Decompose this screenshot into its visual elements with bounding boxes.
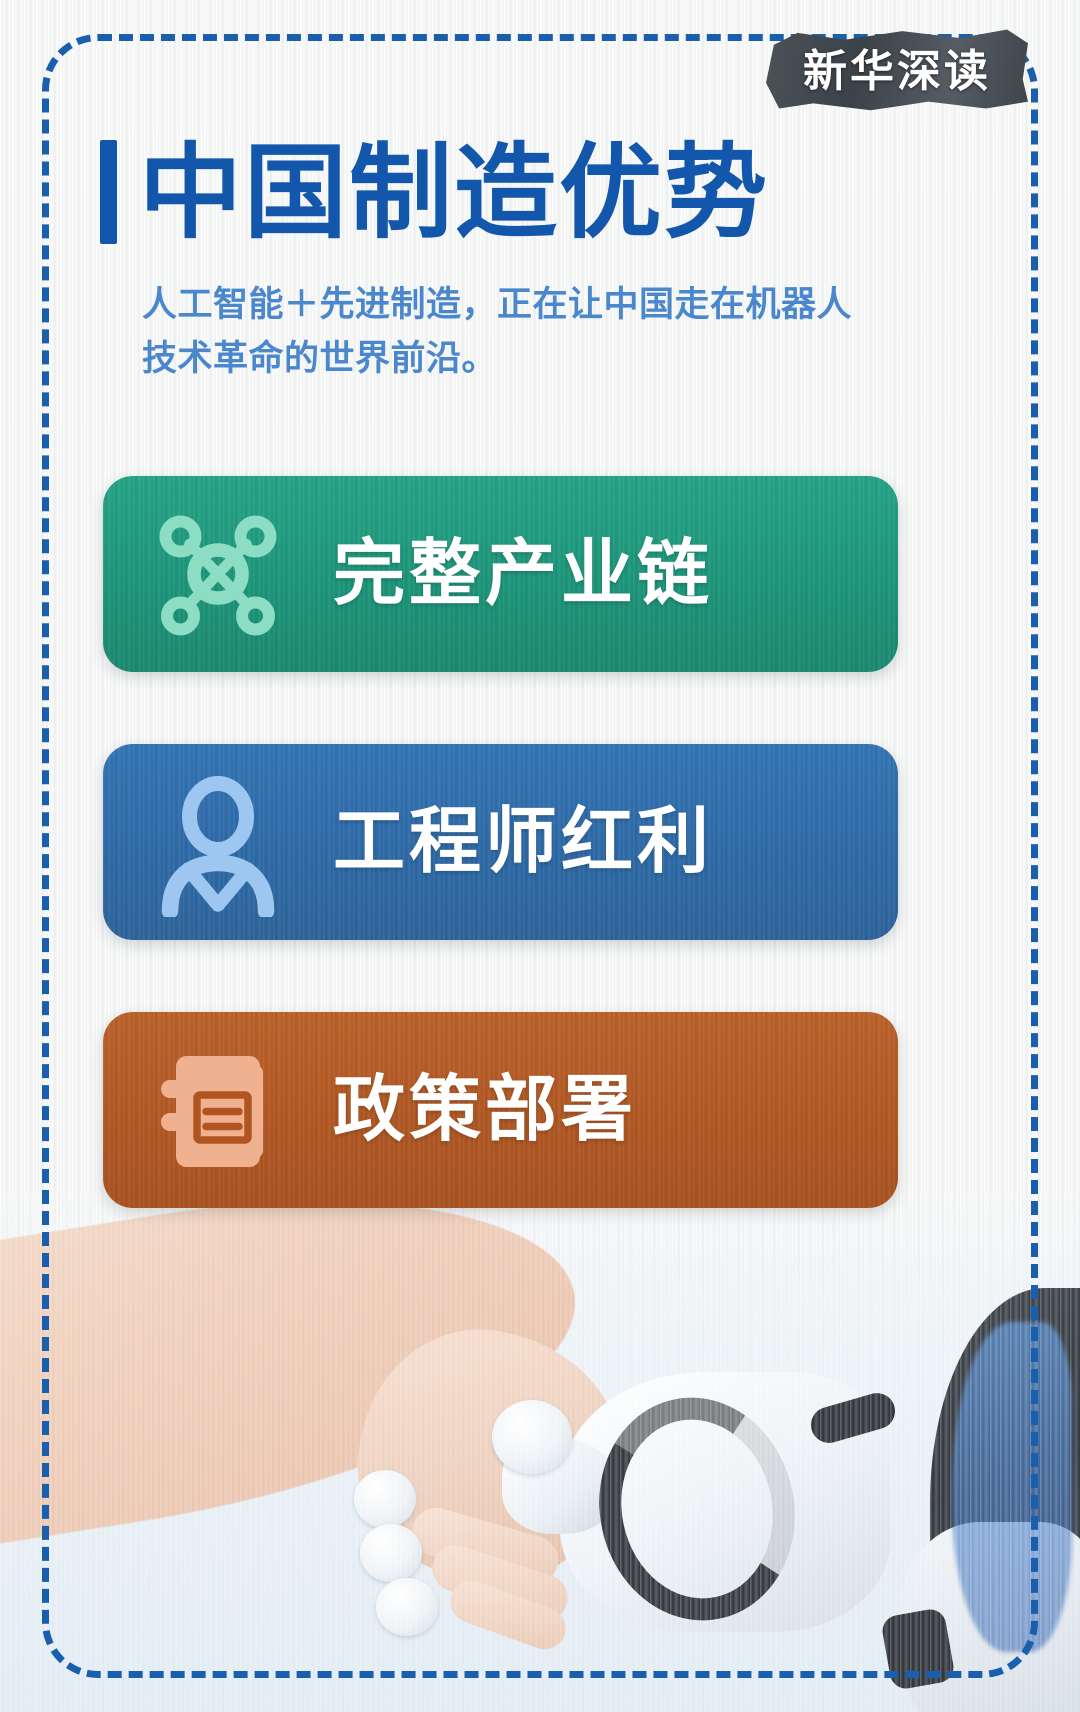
- card-label: 工程师红利: [333, 806, 713, 878]
- card-label: 完整产业链: [333, 538, 713, 610]
- title-row: 中国制造优势: [100, 140, 990, 244]
- network-hub-icon: [103, 499, 333, 649]
- person-icon: [103, 767, 333, 917]
- page-subtitle: 人工智能＋先进制造，正在让中国走在机器人技术革命的世界前沿。: [142, 278, 882, 387]
- card-policy-deployment[interactable]: 政策部署: [103, 1012, 898, 1208]
- notebook-icon: [103, 1035, 333, 1185]
- badge-label: 新华深读: [766, 26, 1028, 112]
- poster: 新华深读 中国制造优势 人工智能＋先进制造，正在让中国走在机器人技术革命的世界前…: [0, 0, 1080, 1712]
- header: 中国制造优势 人工智能＋先进制造，正在让中国走在机器人技术革命的世界前沿。: [100, 140, 990, 387]
- brush-badge: 新华深读: [766, 26, 1028, 112]
- card-label: 政策部署: [333, 1074, 637, 1146]
- advantage-card-list: 完整产业链 工程师红利: [103, 476, 898, 1280]
- card-engineer-dividend[interactable]: 工程师红利: [103, 744, 898, 940]
- page-title: 中国制造优势: [139, 141, 769, 244]
- card-complete-industry-chain[interactable]: 完整产业链: [103, 476, 898, 672]
- title-accent-bar: [100, 140, 117, 244]
